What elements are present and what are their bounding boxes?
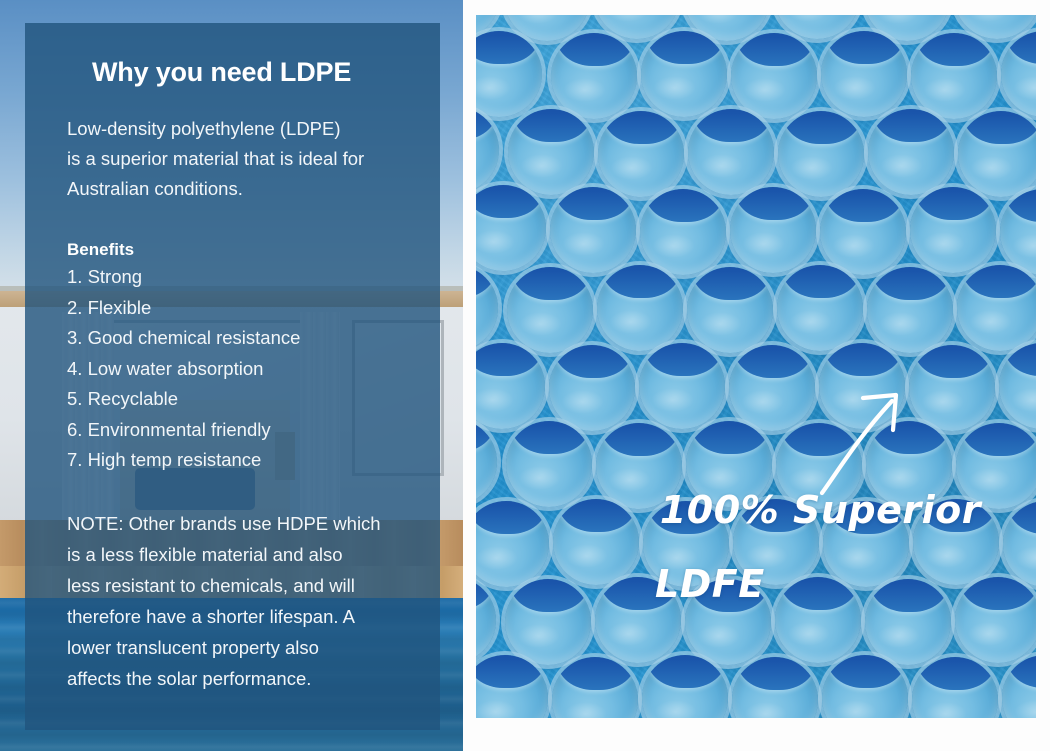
bubble: [552, 657, 638, 718]
bubble: [775, 577, 861, 663]
bubble: [821, 31, 907, 117]
bubble: [507, 267, 593, 353]
bubble: [598, 111, 684, 197]
bubble: [778, 111, 864, 197]
bubble: [643, 501, 729, 587]
bubble: [733, 499, 819, 585]
list-item: 7. High temp resistance: [67, 445, 416, 476]
bubble: [549, 345, 635, 431]
bubble: [550, 187, 636, 273]
left-photo-panel: Why you need LDPE Low-density polyethyle…: [0, 0, 463, 751]
bubble: [1002, 655, 1036, 718]
bubble: [685, 579, 771, 665]
bubble: [958, 111, 1036, 197]
intro-paragraph: Low-density polyethylene (LDPE) is a sup…: [67, 114, 416, 204]
bubble: [595, 577, 681, 663]
bubble: [551, 33, 637, 119]
bubble: [730, 187, 816, 273]
bubble: [476, 655, 548, 718]
bubble: [822, 655, 908, 718]
list-item: 3. Good chemical resistance: [67, 323, 416, 354]
bubble: [956, 423, 1036, 509]
bubble: [641, 31, 727, 117]
bubble: [508, 109, 594, 195]
bubble: [777, 265, 863, 351]
page-title: Why you need LDPE: [92, 57, 416, 88]
bubble: [865, 579, 951, 665]
note-paragraph: NOTE: Other brands use HDPE which is a l…: [67, 508, 416, 694]
bubble: [819, 343, 905, 429]
bubble: [909, 345, 995, 431]
right-product-image: 100% Superior LDFE: [476, 15, 1036, 718]
bubble: [687, 267, 773, 353]
bubble: [912, 657, 998, 718]
bubble: [731, 33, 817, 119]
bubble: [688, 109, 774, 195]
bubble: [505, 579, 591, 665]
bubble: [910, 187, 996, 273]
infographic-page: Why you need LDPE Low-density polyethyle…: [0, 0, 1050, 751]
bubble: [553, 499, 639, 585]
bubble: [911, 33, 997, 119]
bubble: [957, 265, 1036, 351]
bubble: [776, 423, 862, 509]
bubble: [955, 577, 1036, 663]
list-item: 4. Low water absorption: [67, 354, 416, 385]
bubble: [867, 267, 953, 353]
ldpe-info-card: Why you need LDPE Low-density polyethyle…: [25, 23, 440, 730]
bubble: [913, 499, 999, 585]
bubble: [868, 109, 954, 195]
bubble: [820, 189, 906, 275]
bubble: [506, 421, 592, 507]
bubble: [823, 501, 909, 587]
bubble: [729, 345, 815, 431]
list-item: 2. Flexible: [67, 293, 416, 324]
bubble: [642, 655, 728, 718]
bubble: [640, 189, 726, 275]
benefits-list: 1. Strong 2. Flexible 3. Good chemical r…: [67, 262, 416, 476]
list-item: 5. Recyclable: [67, 384, 416, 415]
bubble: [596, 423, 682, 509]
bubble: [597, 265, 683, 351]
list-item: 6. Environmental friendly: [67, 415, 416, 446]
bubble: [686, 421, 772, 507]
bubble: [639, 343, 725, 429]
bubble: [866, 421, 952, 507]
list-item: 1. Strong: [67, 262, 416, 293]
bubble: [732, 657, 818, 718]
benefits-heading: Benefits: [67, 240, 416, 260]
